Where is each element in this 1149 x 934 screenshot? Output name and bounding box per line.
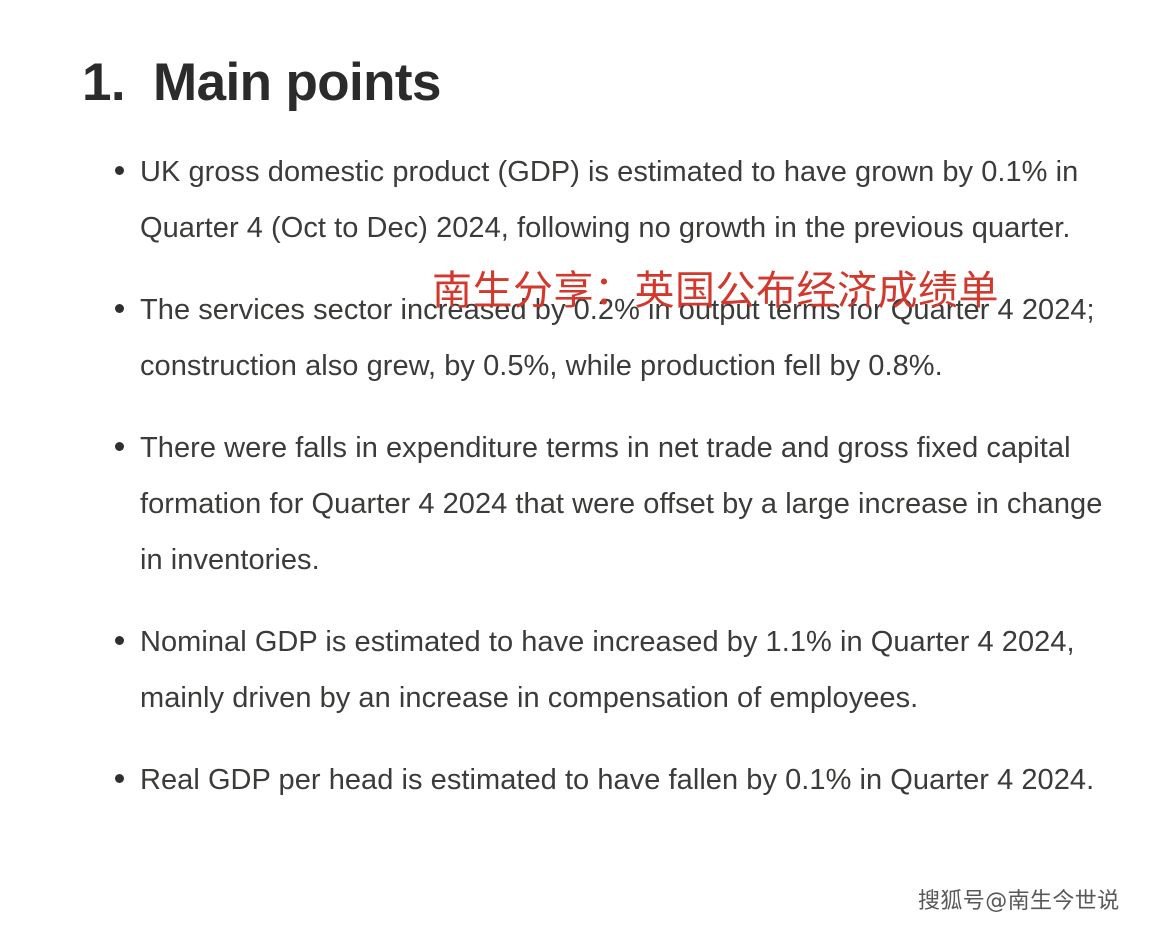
list-item: There were falls in expenditure terms in… <box>112 420 1115 588</box>
source-watermark: 搜狐号@南生今世说 <box>918 889 1120 915</box>
red-annotation-caption: 南生分享：英国公布经济成绩单 <box>432 268 999 314</box>
section-title-text: Main points <box>153 53 441 112</box>
list-item: Real GDP per head is estimated to have f… <box>112 752 1130 808</box>
section-number: 1. <box>82 52 125 115</box>
document-page: 1.Main points UK gross domestic product … <box>0 0 1149 934</box>
bullet-disc-icon <box>115 166 124 175</box>
page-title: 1.Main points <box>82 52 441 115</box>
list-item-text: There were falls in expenditure terms in… <box>140 432 1102 576</box>
list-item-text: UK gross domestic product (GDP) is estim… <box>140 156 1078 244</box>
list-item: Nominal GDP is estimated to have increas… <box>112 614 1130 726</box>
bullet-disc-icon <box>115 774 124 783</box>
main-points-list: UK gross domestic product (GDP) is estim… <box>112 144 1112 808</box>
list-item-text: Real GDP per head is estimated to have f… <box>140 764 1094 796</box>
bullet-disc-icon <box>115 636 124 645</box>
bullet-disc-icon <box>115 304 124 313</box>
bullet-disc-icon <box>115 442 124 451</box>
list-item: UK gross domestic product (GDP) is estim… <box>112 144 1090 256</box>
list-item-text: Nominal GDP is estimated to have increas… <box>140 626 1075 714</box>
